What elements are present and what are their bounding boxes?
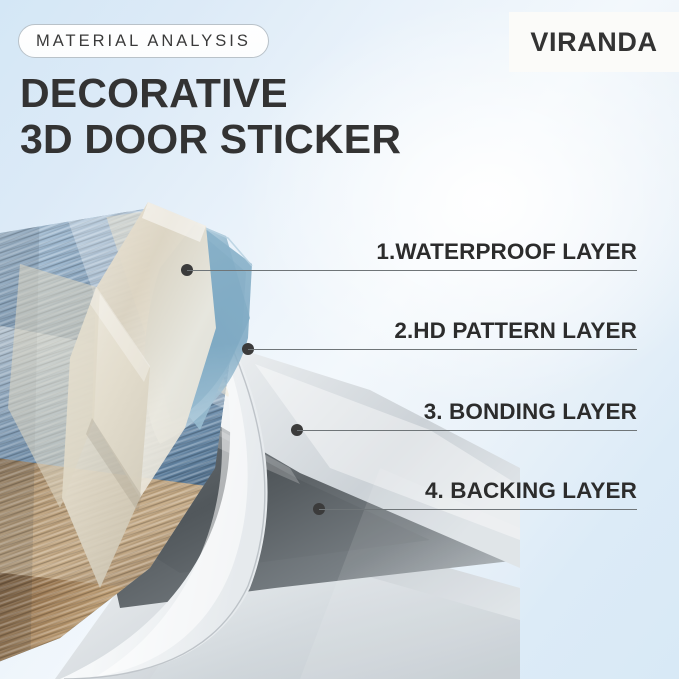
title-line-1: DECORATIVE	[20, 70, 580, 116]
callout-leader-line-1	[187, 270, 637, 271]
callout-leader-line-2	[248, 349, 637, 350]
eyebrow-badge: MATERIAL ANALYSIS	[18, 24, 269, 58]
callout-label-4: 4. BACKING LAYER	[425, 478, 637, 504]
page-title: DECORATIVE 3D DOOR STICKER	[20, 70, 580, 162]
eyebrow-label: MATERIAL ANALYSIS	[36, 32, 251, 51]
callout-leader-line-4	[319, 509, 637, 510]
title-line-2: 3D DOOR STICKER	[20, 116, 580, 162]
callout-leader-line-3	[297, 430, 637, 431]
brand-logo-plate: VIRANDA	[509, 12, 679, 72]
callout-label-2: 2.HD PATTERN LAYER	[394, 318, 637, 344]
infographic-canvas: MATERIAL ANALYSIS DECORATIVE 3D DOOR STI…	[0, 0, 679, 679]
callout-label-1: 1.WATERPROOF LAYER	[376, 239, 637, 265]
brand-name: VIRANDA	[530, 27, 657, 58]
callout-label-3: 3. BONDING LAYER	[424, 399, 637, 425]
